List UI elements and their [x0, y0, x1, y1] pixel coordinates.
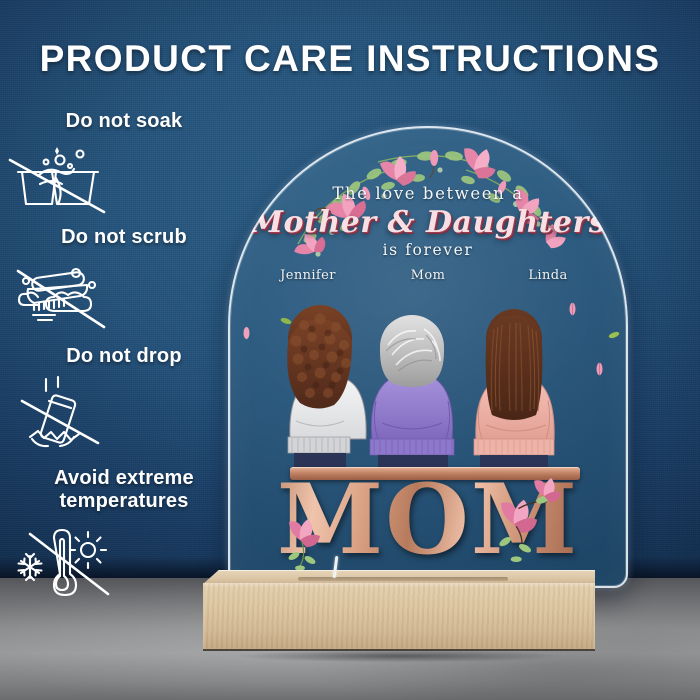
figure-daughter-right	[474, 309, 554, 469]
care-label-do-not-soak: Do not soak	[0, 110, 248, 134]
care-item-do-not-soak: Do not soak	[0, 110, 248, 216]
mom-lettering: MOM	[228, 472, 628, 568]
plaque-content: The love between a Mother & Daughters is…	[228, 126, 628, 588]
figure-daughter-left	[287, 305, 366, 467]
care-label-line1: Avoid extreme	[54, 467, 194, 489]
name-label-center: Mom	[392, 268, 464, 283]
base-front-face	[203, 583, 595, 651]
no-scrub-brush-icon	[0, 253, 248, 333]
product-care-image: PRODUCT CARE INSTRUCTIONS Do not soak	[0, 0, 700, 700]
care-label-do-not-drop: Do not drop	[0, 345, 248, 369]
figure-names-row: Jennifer Mom Linda	[228, 268, 628, 283]
figure-mother-center	[370, 315, 454, 469]
base-slot	[298, 577, 508, 581]
care-item-do-not-scrub: Do not scrub	[0, 226, 248, 334]
page-title: PRODUCT CARE INSTRUCTIONS	[0, 38, 700, 80]
care-label-line2: temperatures	[59, 490, 188, 512]
family-figures-illustration	[228, 301, 628, 476]
name-label-left: Jennifer	[272, 268, 344, 283]
care-instruction-list: Do not soak	[0, 110, 248, 607]
headline-line-middle: Mother & Daughters	[228, 205, 628, 240]
care-label-do-not-scrub: Do not scrub	[0, 226, 248, 250]
no-drop-icon	[0, 373, 248, 455]
acrylic-plaque: The love between a Mother & Daughters is…	[228, 126, 628, 588]
care-label-avoid-extreme-temperatures: Avoid extreme temperatures	[0, 467, 248, 514]
name-label-right: Linda	[512, 268, 584, 283]
no-soak-basin-icon	[0, 138, 248, 216]
wooden-base	[203, 570, 595, 655]
care-item-do-not-drop: Do not drop	[0, 345, 248, 455]
plaque-headline: The love between a Mother & Daughters is…	[228, 184, 628, 259]
base-drop-shadow	[187, 648, 611, 664]
headline-line-top: The love between a	[228, 184, 628, 203]
headline-line-bottom: is forever	[228, 241, 628, 259]
